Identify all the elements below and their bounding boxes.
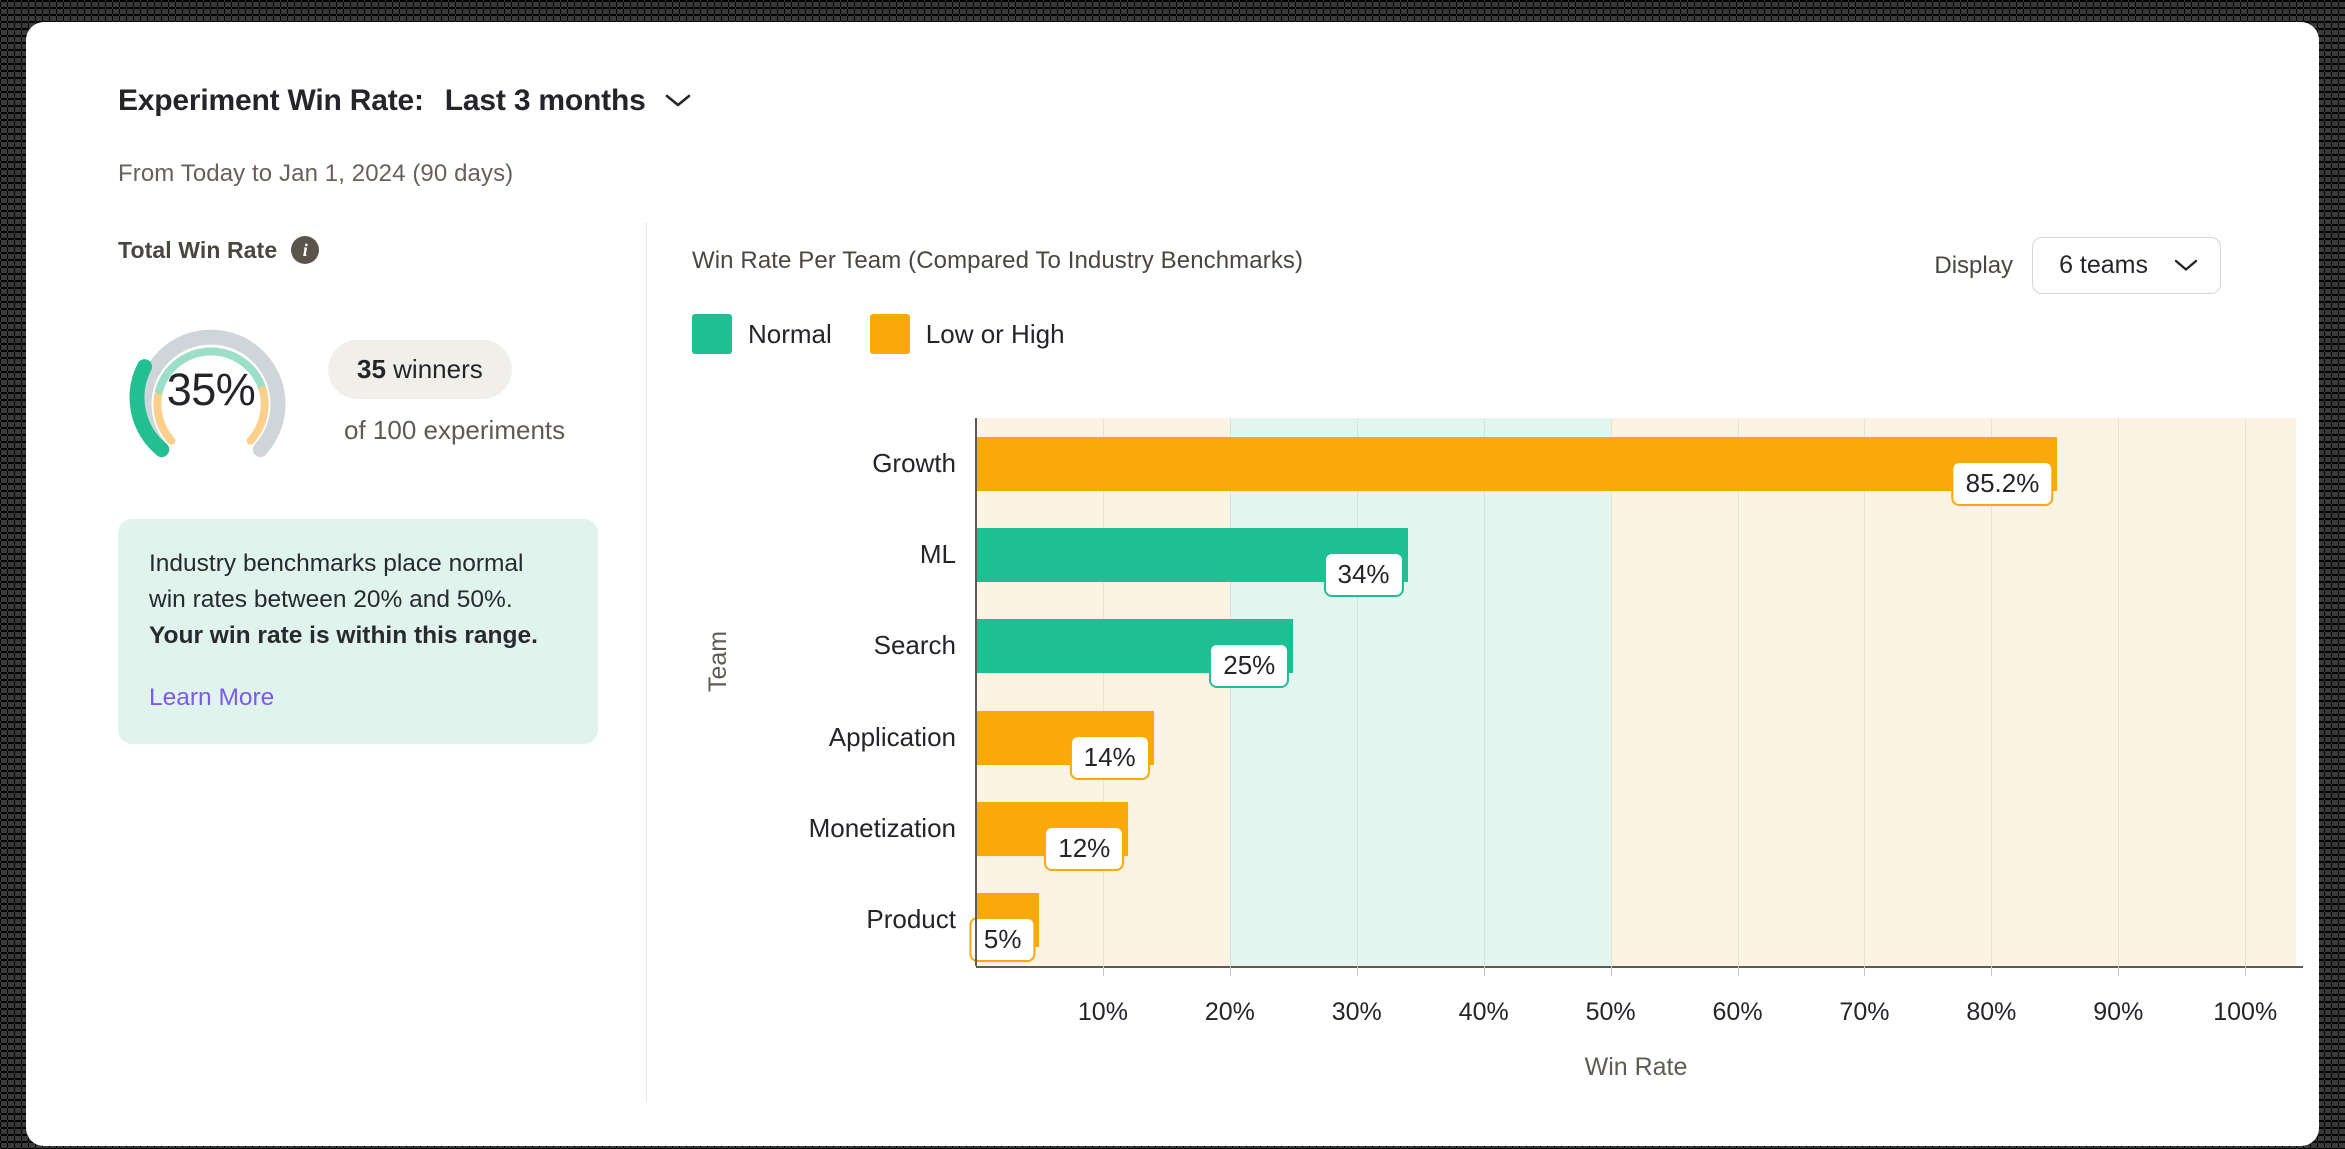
x-tick-mark bbox=[1991, 966, 1992, 976]
header: Experiment Win Rate: Last 3 months bbox=[118, 84, 691, 118]
date-range-value: Last 3 months bbox=[445, 84, 646, 118]
panel-divider bbox=[646, 222, 647, 1102]
display-control: Display 6 teams bbox=[1934, 237, 2221, 294]
learn-more-link[interactable]: Learn More bbox=[149, 684, 274, 712]
x-tick-label: 40% bbox=[1459, 998, 1509, 1027]
winners-count: 35 bbox=[357, 354, 386, 384]
legend-label: Low or High bbox=[926, 319, 1065, 350]
date-range-dropdown[interactable]: Last 3 months bbox=[445, 84, 691, 118]
total-win-rate-header: Total Win Rate i bbox=[118, 236, 319, 264]
x-tick-mark bbox=[1484, 966, 1485, 976]
bar-value-label: 85.2% bbox=[1952, 461, 2054, 506]
x-tick-mark bbox=[1357, 966, 1358, 976]
legend-label: Normal bbox=[748, 319, 832, 350]
x-tick-label: 50% bbox=[1586, 998, 1636, 1027]
page-title: Experiment Win Rate: bbox=[118, 84, 424, 118]
x-tick-mark bbox=[1611, 966, 1612, 976]
y-axis-title: Team bbox=[704, 631, 733, 692]
info-icon[interactable]: i bbox=[291, 236, 319, 264]
chevron-down-icon bbox=[2174, 251, 2198, 280]
display-label: Display bbox=[1934, 252, 2013, 280]
category-label: Monetization bbox=[809, 813, 956, 844]
benchmark-callout: Industry benchmarks place normal win rat… bbox=[118, 519, 598, 744]
bar-value-label: 5% bbox=[970, 917, 1036, 962]
gridline bbox=[2245, 418, 2246, 966]
x-axis-line bbox=[976, 966, 2303, 968]
x-tick-mark bbox=[1103, 966, 1104, 976]
chart-plot-area: 85.2%34%25%14%12%5% bbox=[976, 418, 2296, 966]
x-tick-mark bbox=[2245, 966, 2246, 976]
category-label: Search bbox=[874, 630, 956, 661]
bar-value-label: 14% bbox=[1070, 735, 1150, 780]
gridline bbox=[1357, 418, 1358, 966]
x-tick-label: 60% bbox=[1713, 998, 1763, 1027]
legend-swatch-low-or-high bbox=[870, 314, 910, 354]
winners-word: winners bbox=[393, 354, 483, 384]
gridline bbox=[1738, 418, 1739, 966]
legend-item[interactable]: Normal bbox=[692, 314, 832, 354]
gauge-value-text: 35% bbox=[116, 294, 306, 484]
callout-text: Industry benchmarks place normal win rat… bbox=[149, 546, 567, 654]
x-tick-label: 90% bbox=[2093, 998, 2143, 1027]
callout-text-bold: Your win rate is within this range. bbox=[149, 622, 538, 649]
x-tick-mark bbox=[1864, 966, 1865, 976]
bar-value-label: 34% bbox=[1323, 552, 1403, 597]
band-normal-benchmark bbox=[1230, 418, 1611, 966]
x-axis-title: Win Rate bbox=[1585, 1053, 1688, 1082]
win-rate-gauge: 35% bbox=[116, 294, 306, 484]
experiment-win-rate-card: Experiment Win Rate: Last 3 months From … bbox=[26, 22, 2319, 1146]
y-axis-line bbox=[975, 418, 977, 966]
gridline bbox=[1611, 418, 1612, 966]
callout-text-normal: Industry benchmarks place normal win rat… bbox=[149, 550, 523, 613]
category-label: Growth bbox=[872, 448, 956, 479]
legend-swatch-normal bbox=[692, 314, 732, 354]
x-tick-mark bbox=[1230, 966, 1231, 976]
winners-badge: 35 winners bbox=[328, 340, 512, 399]
x-tick-label: 80% bbox=[1966, 998, 2016, 1027]
bar-value-label: 25% bbox=[1209, 643, 1289, 688]
category-label: ML bbox=[920, 539, 956, 570]
of-experiments-text: of 100 experiments bbox=[344, 415, 565, 446]
gridline bbox=[2118, 418, 2119, 966]
x-tick-mark bbox=[2118, 966, 2119, 976]
x-tick-label: 30% bbox=[1332, 998, 1382, 1027]
legend-item[interactable]: Low or High bbox=[870, 314, 1065, 354]
category-label: Product bbox=[866, 904, 956, 935]
gridline bbox=[1230, 418, 1231, 966]
x-tick-mark bbox=[1738, 966, 1739, 976]
chart-title: Win Rate Per Team (Compared To Industry … bbox=[692, 247, 1303, 275]
display-teams-value: 6 teams bbox=[2059, 251, 2148, 280]
display-teams-select[interactable]: 6 teams bbox=[2032, 237, 2221, 294]
bar-growth[interactable] bbox=[976, 437, 2057, 491]
category-label: Application bbox=[829, 722, 956, 753]
chevron-down-icon bbox=[665, 93, 691, 109]
x-tick-label: 20% bbox=[1205, 998, 1255, 1027]
date-range-subtitle: From Today to Jan 1, 2024 (90 days) bbox=[118, 160, 513, 188]
gridline bbox=[1484, 418, 1485, 966]
gridline bbox=[1103, 418, 1104, 966]
bar-value-label: 12% bbox=[1044, 826, 1124, 871]
gridline bbox=[1864, 418, 1865, 966]
chart-legend: NormalLow or High bbox=[692, 314, 1065, 354]
x-tick-label: 100% bbox=[2213, 998, 2277, 1027]
x-tick-label: 70% bbox=[1839, 998, 1889, 1027]
x-tick-label: 10% bbox=[1078, 998, 1128, 1027]
total-win-rate-label: Total Win Rate bbox=[118, 237, 277, 264]
